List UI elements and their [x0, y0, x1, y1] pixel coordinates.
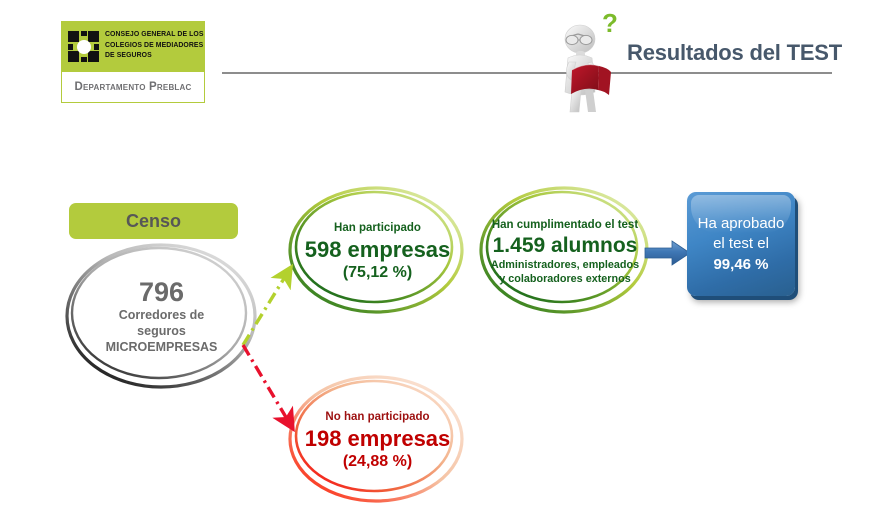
logo-green-band: CONSEJO GENERAL DE LOS COLEGIOS DE MEDIA…: [61, 21, 205, 71]
passed-line-2: el test el: [713, 234, 769, 254]
censo-label-box: Censo: [69, 203, 238, 239]
census-circle-node: 796 Corredores de seguros MICROEMPRESAS: [60, 240, 263, 392]
person-reading-book-icon: ?: [552, 6, 632, 114]
passed-result-plaque: Ha aprobado el test el 99,46 %: [687, 192, 801, 302]
passed-percent: 99,46 %: [713, 254, 768, 275]
logo-department-band: Departamento Preblac: [61, 71, 205, 103]
slide-canvas: CONSEJO GENERAL DE LOS COLEGIOS DE MEDIA…: [0, 0, 877, 520]
organization-logo: CONSEJO GENERAL DE LOS COLEGIOS DE MEDIA…: [61, 21, 205, 103]
censo-label: Censo: [126, 211, 181, 232]
consejo-logo-mark-icon: [68, 31, 99, 62]
page-title: Resultados del TEST: [627, 40, 842, 66]
participated-circle-node: Han participado 598 empresas (75,12 %): [286, 184, 469, 320]
logo-department-label: Departamento Preblac: [75, 81, 192, 93]
not-participated-circle-node: No han participado 198 empresas (24,88 %…: [286, 373, 469, 509]
passed-line-1: Ha aprobado: [698, 214, 785, 234]
completed-test-circle-node: Han cumplimentado el test 1.459 alumnos …: [477, 184, 653, 320]
logo-org-name: CONSEJO GENERAL DE LOS COLEGIOS DE MEDIA…: [105, 29, 196, 61]
header-divider: [222, 72, 832, 74]
svg-text:?: ?: [602, 8, 618, 38]
